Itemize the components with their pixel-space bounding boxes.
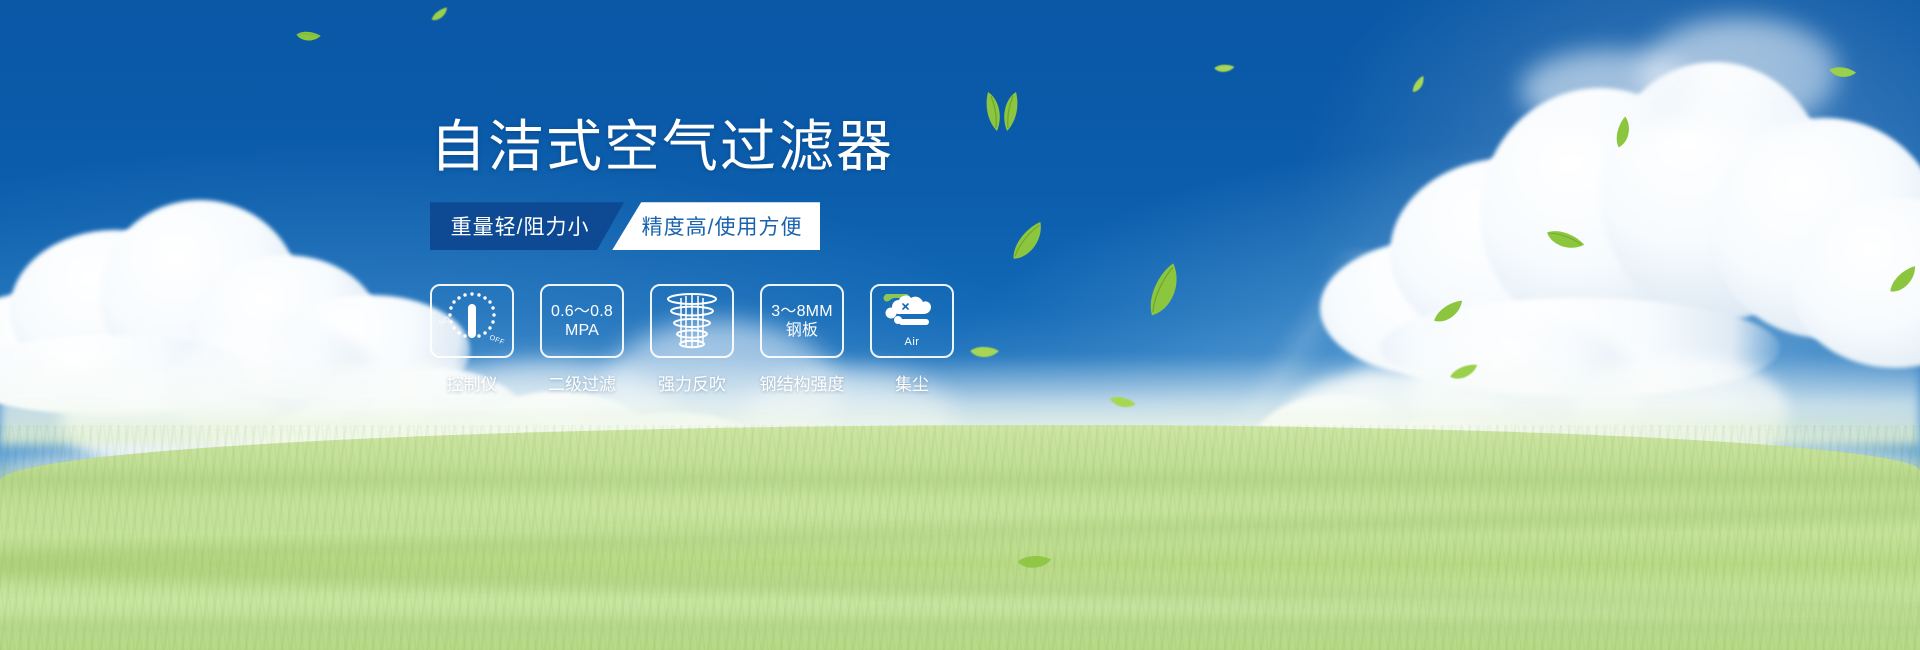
- grass-band-4: [0, 611, 1920, 645]
- slogan-tab-secondary[interactable]: 精度高/使用方便: [612, 202, 820, 250]
- feature-item-pressure[interactable]: 0.6～0.8 MPA 二级过滤: [540, 284, 624, 395]
- slogan-tab-primary[interactable]: 重量轻/阻力小: [430, 202, 624, 250]
- feature-list: NO OFF 控制仪 0.6～0.8 MPA 二级过滤: [430, 284, 1050, 395]
- feature-caption: 集尘: [895, 370, 929, 395]
- air-label: Air: [905, 336, 920, 348]
- banner-content: 自洁式空气过滤器 重量轻/阻力小 精度高/使用方便: [430, 118, 1050, 395]
- feature-icon-box: Air: [870, 284, 954, 358]
- feature-caption: 控制仪: [447, 370, 498, 395]
- feature-icon-box: 3～8MM 钢板: [760, 284, 844, 358]
- feature-item-blowback[interactable]: 强力反吹: [650, 284, 734, 395]
- feature-item-dust[interactable]: Air 集尘: [870, 284, 954, 395]
- steel-material: 钢板: [786, 321, 818, 341]
- sprout-leaves-icon: [970, 84, 1034, 137]
- feature-icon-box: 0.6～0.8 MPA: [540, 284, 624, 358]
- feature-item-steel[interactable]: 3～8MM 钢板 钢结构强度: [760, 284, 844, 395]
- feature-caption: 二级过滤: [548, 370, 616, 395]
- pressure-value: 0.6～0.8: [551, 302, 613, 322]
- feature-item-control[interactable]: NO OFF 控制仪: [430, 284, 514, 395]
- slogan-tabs: 重量轻/阻力小 精度高/使用方便: [430, 202, 820, 250]
- steel-thickness: 3～8MM: [771, 302, 832, 322]
- control-dial-icon: NO OFF: [438, 291, 506, 351]
- pressure-unit: MPA: [565, 321, 599, 341]
- filter-coil-icon: [664, 292, 720, 350]
- feature-caption: 强力反吹: [658, 370, 726, 395]
- page-title: 自洁式空气过滤器: [430, 118, 1050, 176]
- feature-caption: 钢结构强度: [760, 370, 845, 395]
- grass-band-1: [0, 463, 1920, 497]
- dust-cloud-icon: [881, 294, 943, 334]
- grass-field: [0, 425, 1920, 650]
- product-banner: 自洁式空气过滤器 重量轻/阻力小 精度高/使用方便: [0, 0, 1920, 650]
- feature-icon-box: [650, 284, 734, 358]
- feature-icon-box: NO OFF: [430, 284, 514, 358]
